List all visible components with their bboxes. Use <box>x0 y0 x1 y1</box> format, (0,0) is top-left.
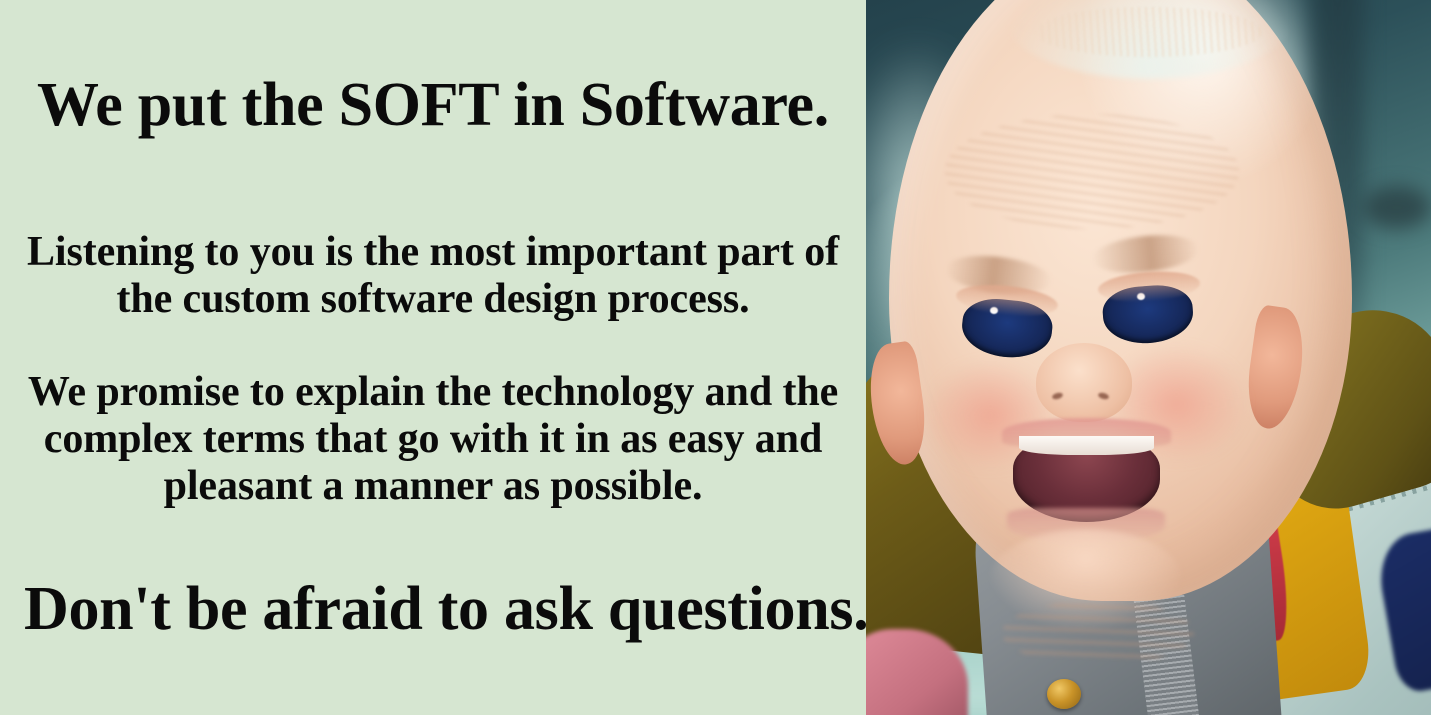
paragraph-listening: Listening to you is the most important p… <box>24 229 842 323</box>
slide-root: We put the SOFT in Software. Listening t… <box>0 0 1431 715</box>
jacket-button-lower <box>1047 679 1081 709</box>
headline-top: We put the SOFT in Software. <box>24 74 842 136</box>
baby-neck-folds <box>1002 601 1194 665</box>
baby-hair-strands <box>1036 7 1262 57</box>
baby-nose <box>1036 343 1132 422</box>
baby-photo <box>866 0 1431 715</box>
forehead-texture <box>945 114 1239 228</box>
backdrop-smudge <box>1363 186 1431 229</box>
baby-teeth <box>1019 436 1155 455</box>
text-panel: We put the SOFT in Software. Listening t… <box>0 0 866 715</box>
paragraph-promise: We promise to explain the technology and… <box>24 369 842 510</box>
headline-bottom: Don't be afraid to ask questions. <box>24 578 842 640</box>
